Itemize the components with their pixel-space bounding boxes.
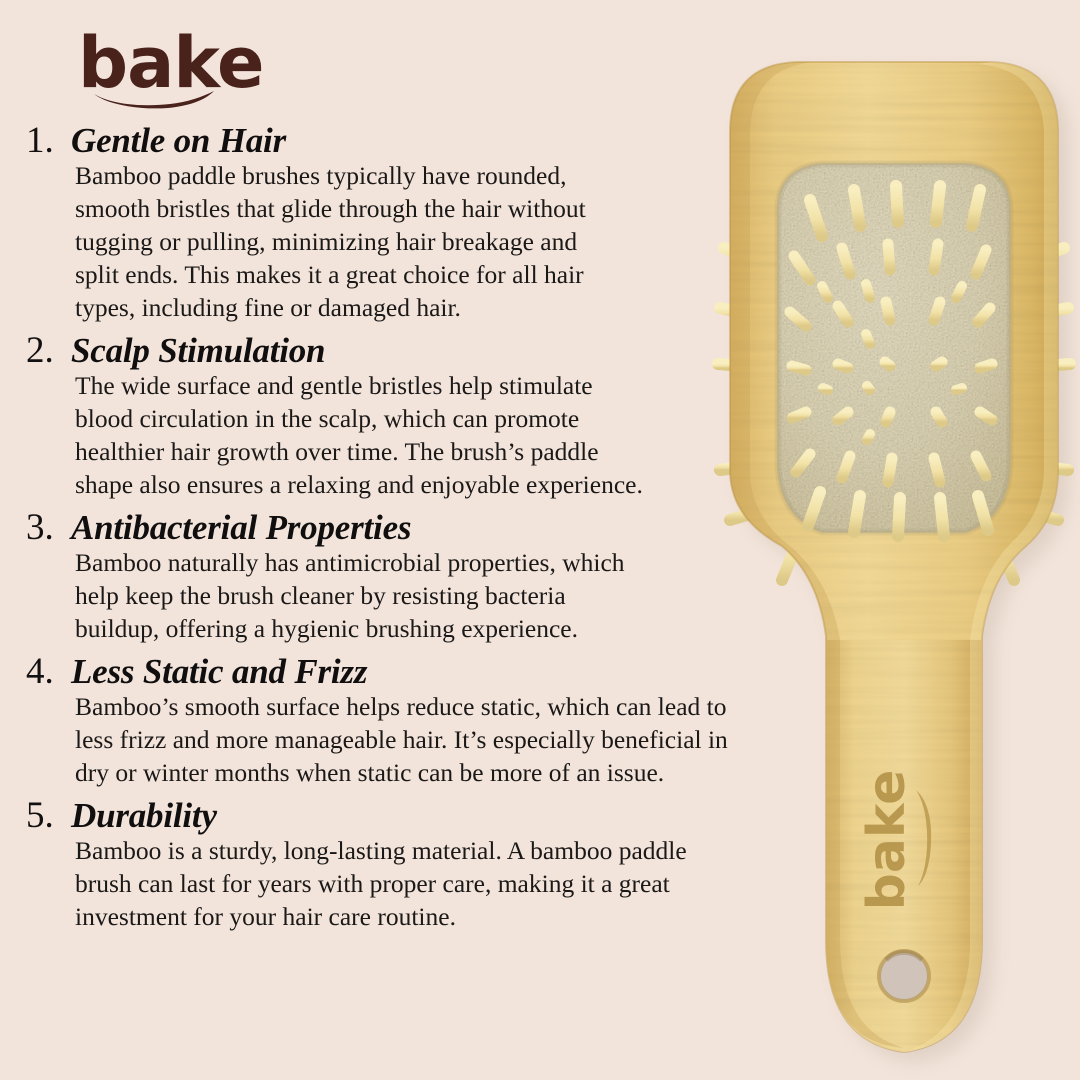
benefit-title-2: Scalp Stimulation (71, 333, 325, 369)
benefit-title-4: Less Static and Frizz (71, 654, 367, 690)
benefit-item-4: 4. Less Static and Frizz Bamboo’s smooth… (26, 653, 800, 790)
benefit-heading-4: 4. Less Static and Frizz (26, 653, 800, 690)
brand-logo-text: bake (78, 28, 268, 98)
brand-logo-swash-icon (92, 90, 218, 108)
benefit-body-2: The wide surface and gentle bristles hel… (26, 370, 654, 502)
benefit-item-2: 2. Scalp Stimulation The wide surface an… (26, 332, 800, 502)
benefit-heading-1: 1. Gentle on Hair (26, 122, 800, 159)
benefit-heading-3: 3. Antibacterial Properties (26, 509, 800, 546)
benefit-number-4: 4. (26, 653, 60, 690)
benefits-list: 1. Gentle on Hair Bamboo paddle brushes … (26, 122, 800, 934)
benefit-body-3: Bamboo naturally has antimicrobial prope… (26, 547, 656, 646)
benefit-number-1: 1. (26, 122, 60, 159)
benefit-title-1: Gentle on Hair (71, 123, 286, 159)
benefit-body-5: Bamboo is a sturdy, long-lasting materia… (26, 835, 708, 934)
handle-engraving-text: bake (857, 770, 917, 911)
benefit-title-3: Antibacterial Properties (71, 510, 411, 546)
benefit-item-3: 3. Antibacterial Properties Bamboo natur… (26, 509, 800, 646)
benefit-number-3: 3. (26, 509, 60, 546)
benefit-item-5: 5. Durability Bamboo is a sturdy, long-l… (26, 797, 800, 934)
benefit-item-1: 1. Gentle on Hair Bamboo paddle brushes … (26, 122, 800, 325)
benefit-heading-2: 2. Scalp Stimulation (26, 332, 800, 369)
benefit-heading-5: 5. Durability (26, 797, 800, 834)
handle-hang-hole (879, 951, 929, 1001)
benefit-body-4: Bamboo’s smooth surface helps reduce sta… (26, 691, 758, 790)
benefit-body-1: Bamboo paddle brushes typically have rou… (26, 160, 626, 324)
benefit-number-2: 2. (26, 332, 60, 369)
benefits-content-column: bake 1. Gentle on Hair Bamboo paddle bru… (0, 0, 800, 1080)
benefit-number-5: 5. (26, 797, 60, 834)
brand-logo: bake (78, 28, 268, 112)
benefit-title-5: Durability (71, 798, 217, 834)
